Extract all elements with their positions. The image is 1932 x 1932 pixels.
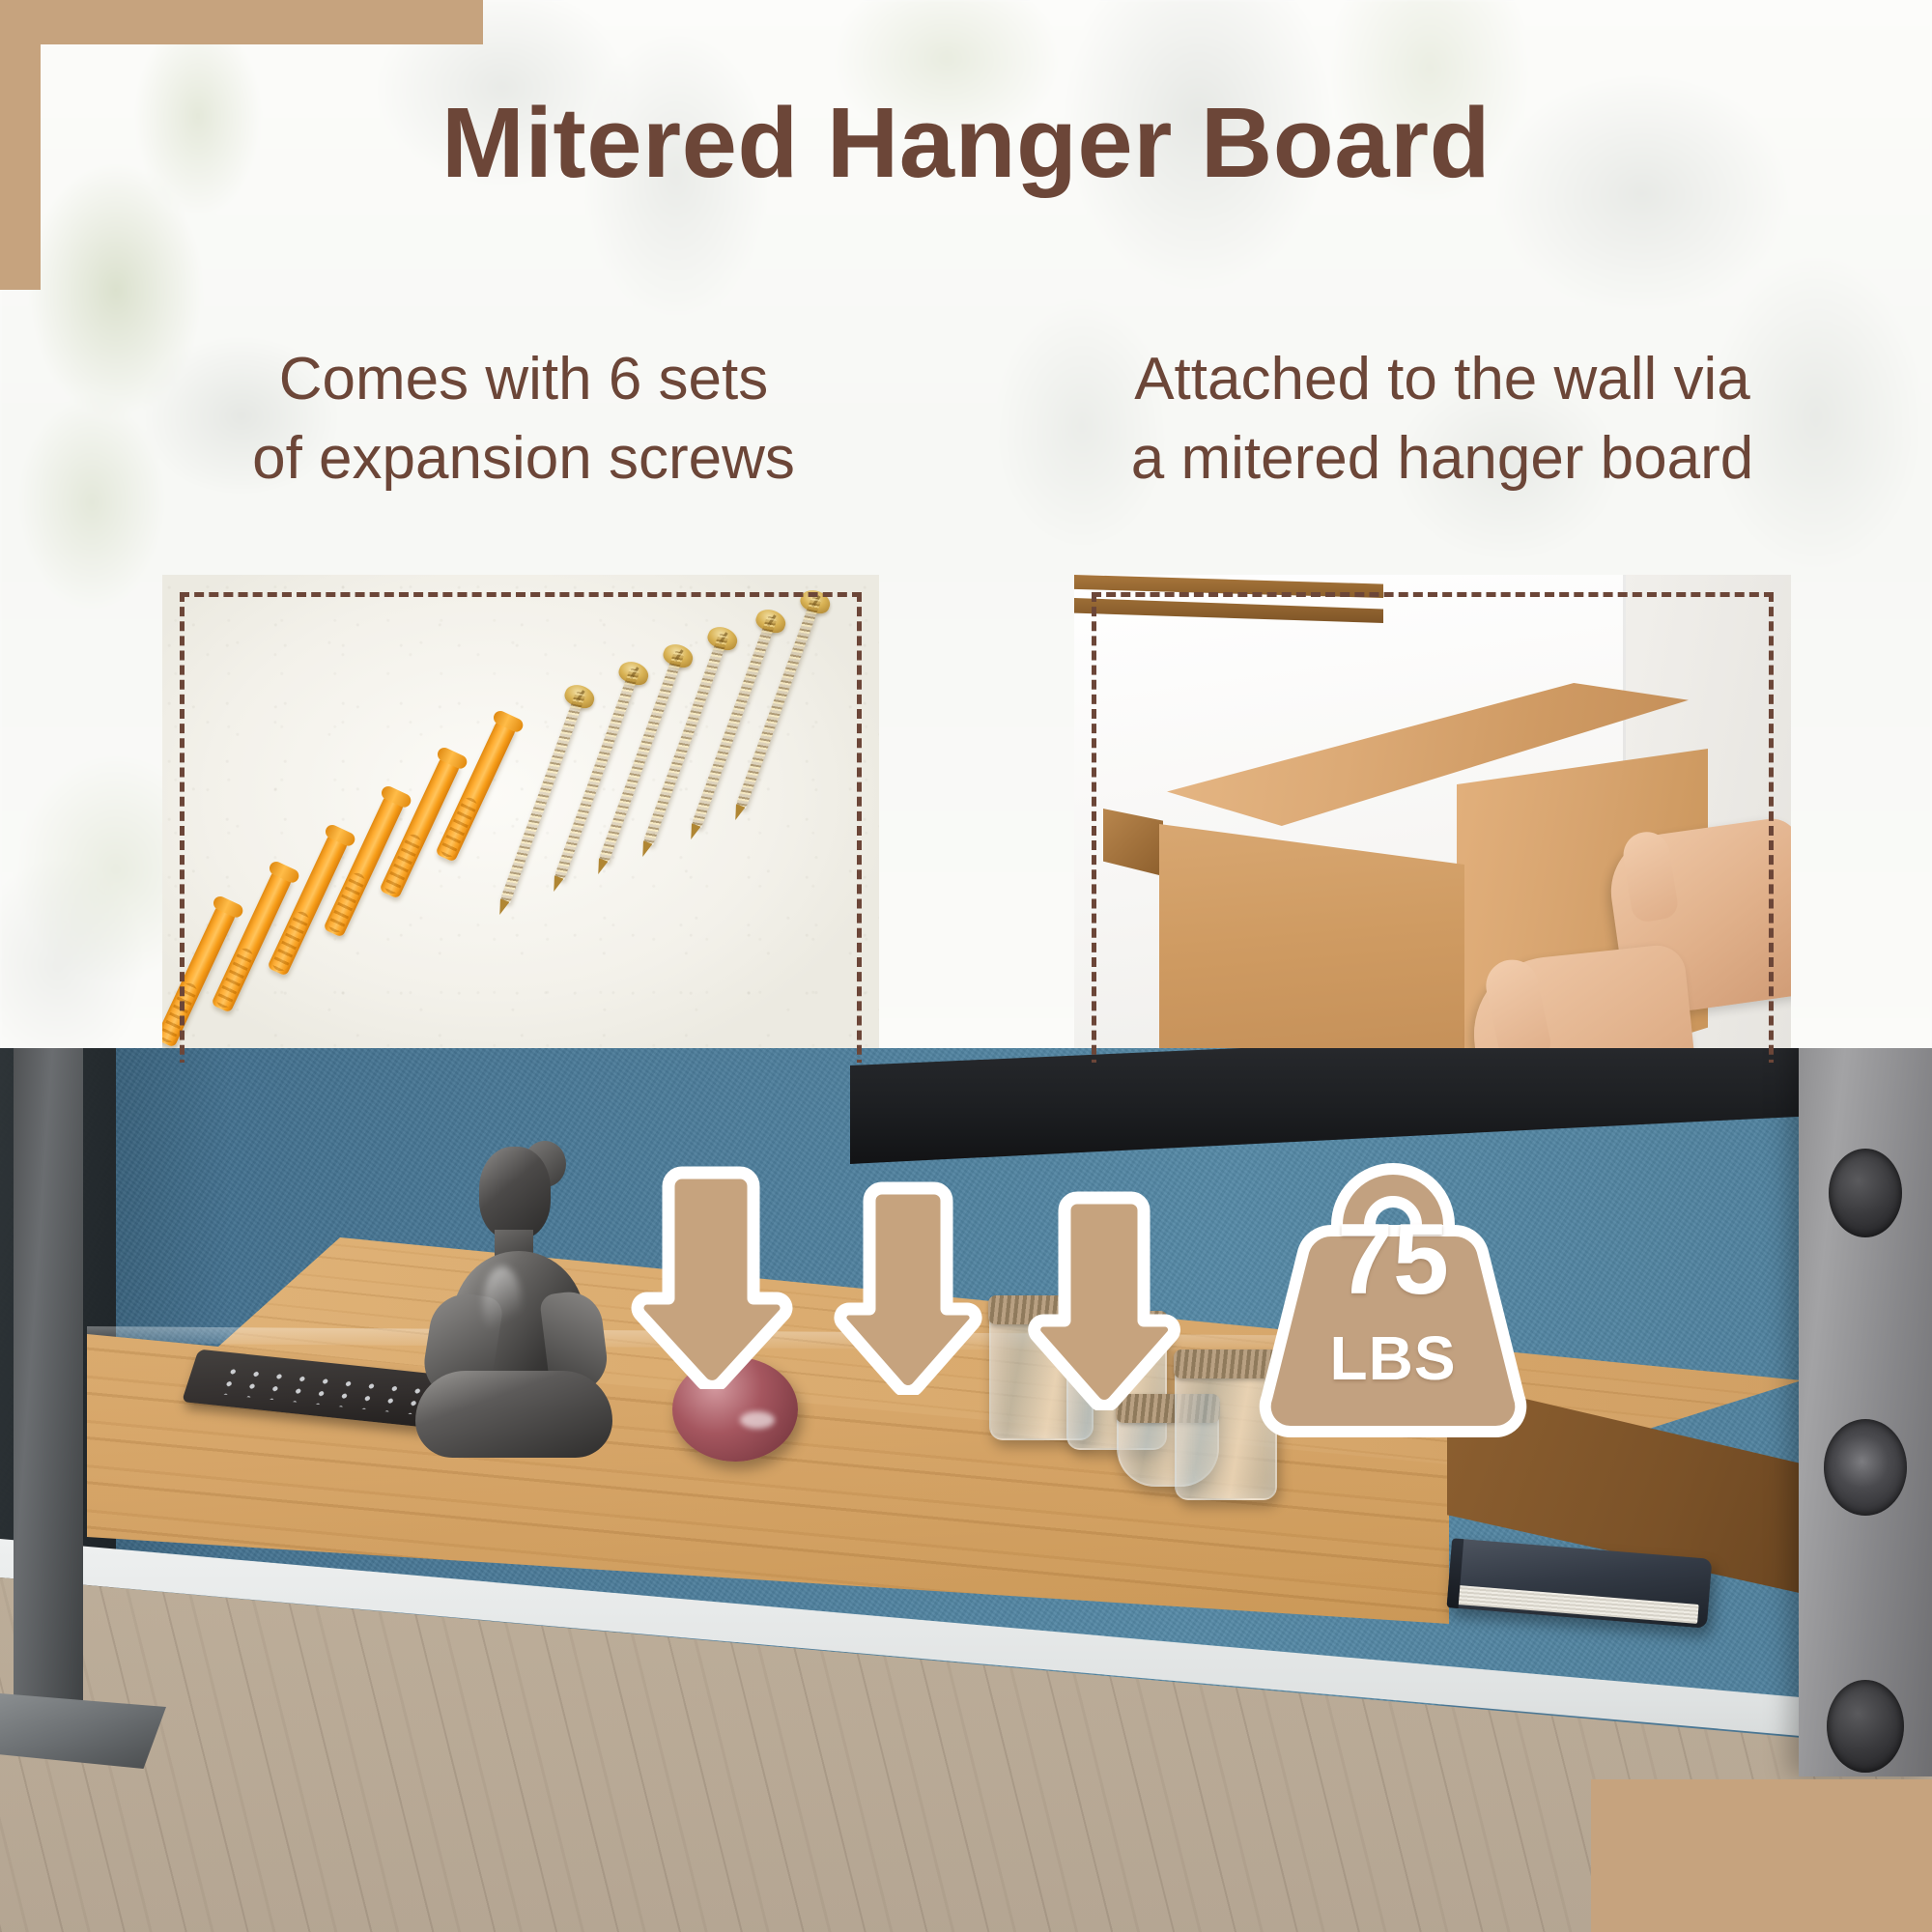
product-feature-poster: Mitered Hanger Board Comes with 6 sets o… xyxy=(0,0,1932,1932)
photo-surface-texture xyxy=(162,575,879,1063)
feature-image-screws xyxy=(162,575,879,1063)
figurine-highlight xyxy=(483,1266,522,1342)
figurine-crossed-legs xyxy=(415,1371,612,1458)
shelf-box-mitered-edge-top xyxy=(1074,575,1383,598)
speaker-driver-bottom xyxy=(1827,1680,1904,1773)
arrow-down-icon xyxy=(831,1180,985,1395)
weight-unit: LBS xyxy=(1238,1327,1548,1389)
shelf-box-mitered-edge-bottom xyxy=(1074,598,1383,623)
feature-image-hanger xyxy=(1074,575,1791,1063)
speaker-driver-top xyxy=(1829,1149,1902,1237)
feature-caption-hanger-line1: Attached to the wall via xyxy=(1041,340,1843,419)
shelf-box-front-face xyxy=(1159,824,1464,1063)
tower-speaker-right xyxy=(1799,1048,1932,1776)
weight-value: 75 xyxy=(1238,1209,1548,1310)
arrow-down-icon xyxy=(626,1165,796,1389)
corner-accent-bottom-right xyxy=(1591,1779,1932,1932)
feature-caption-hanger-line2: a mitered hanger board xyxy=(1041,419,1843,498)
figurine-head xyxy=(479,1147,551,1239)
feature-caption-screws: Comes with 6 sets of expansion screws xyxy=(166,340,881,498)
speaker-stand-pole xyxy=(14,1048,83,1724)
arrow-down-icon xyxy=(1024,1190,1184,1410)
page-title: Mitered Hanger Board xyxy=(0,89,1932,196)
speaker-driver-middle xyxy=(1824,1419,1907,1516)
feature-caption-screws-line1: Comes with 6 sets xyxy=(166,340,881,419)
hanger-cleat xyxy=(1103,809,1163,876)
corner-accent-top-left-bar xyxy=(0,0,483,44)
feature-caption-hanger: Attached to the wall via a mitered hange… xyxy=(1041,340,1843,498)
metallic-seated-figurine xyxy=(415,1147,609,1446)
feature-caption-screws-line2: of expansion screws xyxy=(166,419,881,498)
weight-capacity-badge: 75 LBS xyxy=(1238,1155,1548,1445)
